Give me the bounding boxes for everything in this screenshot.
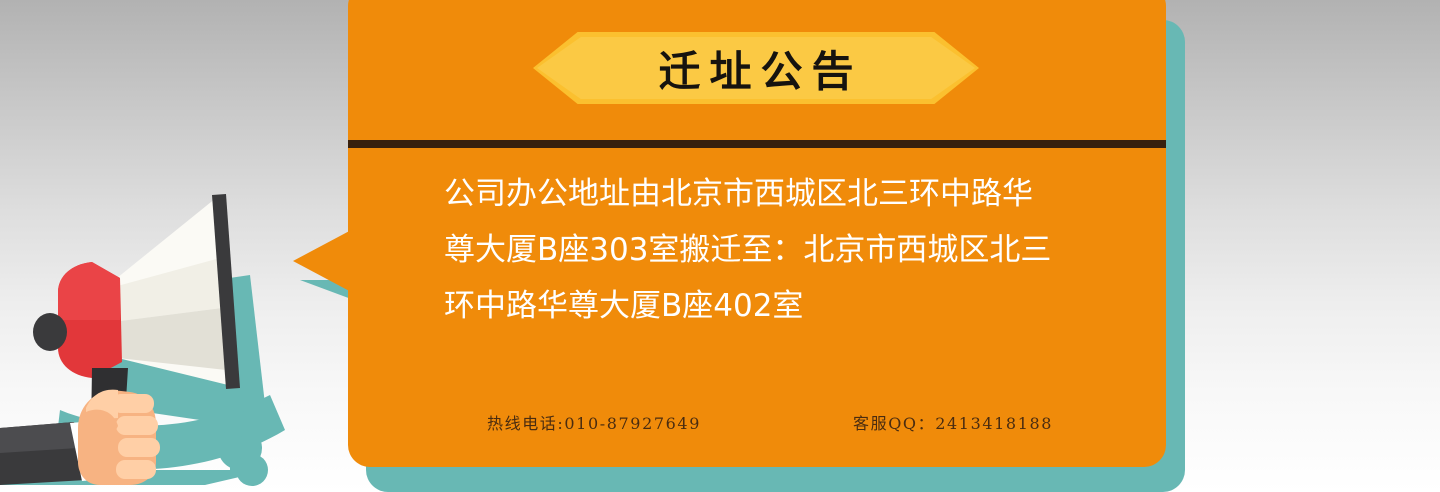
notice-body-line-2: 尊大厦B座303室搬迁至：北京市西城区北三 xyxy=(444,222,1104,278)
megaphone-cone xyxy=(110,198,228,385)
megaphone-body-red xyxy=(58,262,122,378)
notice-card-tail xyxy=(293,228,355,294)
notice-body-line-3: 环中路华尊大厦B座402室 xyxy=(444,278,1104,334)
contact-footer: 热线电话:010-87927649 客服QQ：2413418188 xyxy=(487,410,1087,436)
megaphone-knob xyxy=(33,313,67,351)
title-banner: 迁址公告 xyxy=(533,32,979,104)
announcement-banner-image: 迁址公告 公司办公地址由北京市西城区北三环中路华 尊大厦B座303室搬迁至：北京… xyxy=(0,0,1440,492)
hotline-phone: 热线电话:010-87927649 xyxy=(487,410,701,434)
notice-body: 公司办公地址由北京市西城区北三环中路华 尊大厦B座303室搬迁至：北京市西城区北… xyxy=(444,166,1104,334)
notice-body-line-1: 公司办公地址由北京市西城区北三环中路华 xyxy=(444,166,1104,222)
service-qq: 客服QQ：2413418188 xyxy=(853,410,1053,434)
megaphone-illustration xyxy=(0,180,340,492)
page-title: 迁址公告 xyxy=(533,32,979,104)
title-divider xyxy=(348,140,1166,148)
